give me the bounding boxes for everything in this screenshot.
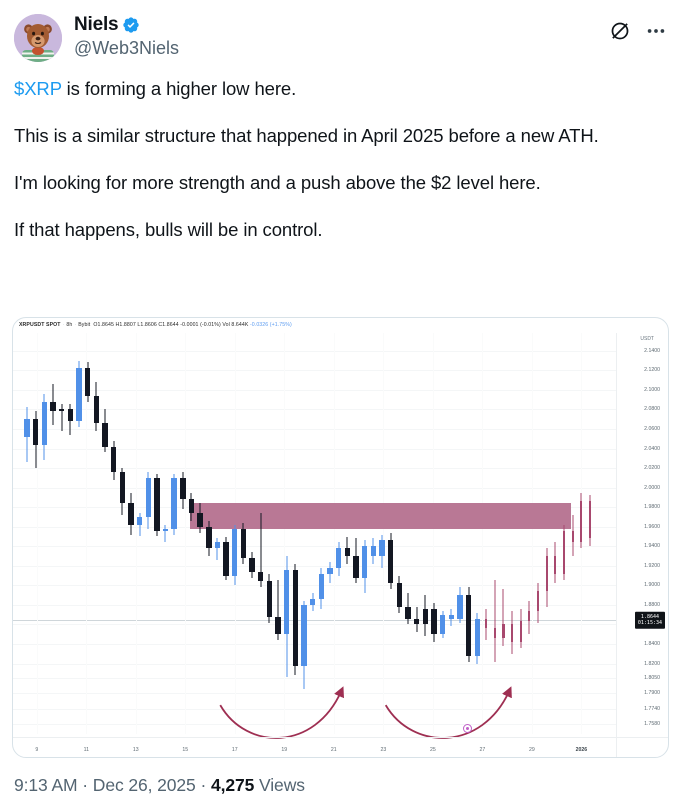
- time-tick: 29: [529, 747, 535, 753]
- vertical-gridline: [532, 333, 533, 734]
- candle-body: [24, 419, 29, 437]
- price-tick: 1.7580: [644, 721, 660, 727]
- candle-body: [154, 478, 159, 531]
- views-count: 4,275: [211, 775, 254, 795]
- candle: [33, 411, 38, 468]
- ohlc-high: H1.8807: [116, 322, 136, 328]
- vertical-gridline: [37, 333, 38, 734]
- tweet-header: Niels @Web3Niels: [0, 0, 681, 64]
- ohlc-volume: Vol 8.644K: [222, 322, 248, 328]
- author-handle[interactable]: @Web3Niels: [74, 37, 609, 60]
- candle: [293, 564, 298, 675]
- cashtag-xrp[interactable]: $XRP: [14, 78, 62, 99]
- candle: [511, 611, 513, 654]
- ohlc-low: L1.8606: [137, 322, 156, 328]
- candle-body: [163, 529, 168, 531]
- chart-interval: 8h: [66, 322, 72, 328]
- candle-body: [475, 619, 480, 656]
- time-tick: 23: [380, 747, 386, 753]
- price-tick: 1.9200: [644, 563, 660, 569]
- price-tick: 1.8050: [644, 675, 660, 681]
- candle-body: [580, 501, 582, 542]
- candle: [258, 513, 263, 587]
- candle-body: [336, 548, 341, 568]
- time-tick: 2026: [576, 747, 588, 753]
- tweet-paragraph-2: This is a similar structure that happene…: [14, 123, 667, 148]
- candle-body: [197, 513, 202, 527]
- price-tick: 1.9600: [644, 524, 660, 530]
- author-names: Niels @Web3Niels: [74, 14, 609, 59]
- vertical-gridline: [482, 333, 483, 734]
- footer-separator-1: ·: [82, 775, 88, 795]
- price-axis[interactable]: USDT 2.14002.12002.10002.08002.06002.040…: [616, 333, 668, 757]
- candle: [554, 542, 556, 583]
- candle-body: [520, 621, 522, 643]
- time-tick: 25: [430, 747, 436, 753]
- candle-wick: [494, 580, 495, 662]
- candle-body: [431, 609, 436, 634]
- grok-icon[interactable]: [609, 20, 631, 42]
- paragraph-1-rest: is forming a higher low here.: [62, 78, 297, 99]
- event-marker-icon[interactable]: [463, 724, 472, 733]
- candle: [345, 537, 350, 564]
- vertical-gridline: [185, 333, 186, 734]
- time-tick: 13: [133, 747, 139, 753]
- gridline: [13, 370, 616, 371]
- vertical-gridline: [433, 333, 434, 734]
- candle-body: [120, 472, 125, 503]
- candle-body: [189, 499, 194, 513]
- candle: [137, 513, 142, 536]
- candle-body: [449, 615, 454, 619]
- ohlc-close: C1.8644: [158, 322, 178, 328]
- time-axis[interactable]: 9111315171921232527292026: [13, 737, 668, 757]
- time-tick: 15: [182, 747, 188, 753]
- candle: [589, 495, 591, 546]
- candle-body: [293, 570, 298, 666]
- chart-symbol: XRPUSDT SPOT: [19, 322, 61, 328]
- candle-body: [275, 617, 280, 635]
- candle-body: [371, 546, 376, 556]
- candle: [362, 540, 367, 593]
- candle-body: [146, 478, 151, 517]
- candle: [206, 521, 211, 556]
- candle-body: [267, 581, 272, 616]
- candle-body: [171, 478, 176, 529]
- candle: [537, 583, 539, 622]
- candle: [528, 601, 530, 634]
- candle-body: [423, 609, 428, 625]
- gridline: [13, 644, 616, 645]
- candle: [466, 587, 471, 661]
- price-tick: 2.0400: [644, 446, 660, 452]
- candle-body: [397, 583, 402, 606]
- candle-body: [589, 501, 591, 538]
- ohlc-change: -0.0001 (-0.01%): [180, 322, 221, 328]
- candle-body: [206, 527, 211, 549]
- candle: [319, 568, 324, 609]
- post-date: Dec 26, 2025: [93, 775, 196, 795]
- candle: [494, 580, 496, 662]
- gridline: [13, 678, 616, 679]
- gridline: [13, 664, 616, 665]
- price-tick: 2.0600: [644, 426, 660, 432]
- time-tick: 17: [232, 747, 238, 753]
- candle: [414, 607, 419, 632]
- candle-body: [223, 542, 228, 575]
- candle: [546, 548, 548, 607]
- candle: [379, 535, 384, 568]
- candle-body: [284, 570, 289, 635]
- candle-body: [554, 556, 556, 574]
- candle: [163, 525, 168, 543]
- candle-body: [345, 548, 350, 556]
- gridline: [13, 351, 616, 352]
- candle-body: [310, 599, 315, 605]
- last-price-countdown: 01:15:34: [638, 620, 662, 626]
- candle: [68, 404, 73, 435]
- last-price-line: [13, 620, 616, 621]
- gridline: [13, 624, 616, 625]
- candle: [502, 589, 504, 646]
- candle: [50, 384, 55, 425]
- candle: [388, 533, 393, 590]
- candle-body: [537, 591, 539, 611]
- candle-body: [494, 628, 496, 638]
- price-tick: 1.8200: [644, 661, 660, 667]
- time-tick: 9: [35, 747, 38, 753]
- candle: [572, 515, 574, 556]
- candle: [580, 493, 582, 548]
- candle: [284, 556, 289, 677]
- candle-body: [137, 517, 142, 525]
- display-name-row: Niels: [74, 14, 609, 36]
- price-tick: 2.0000: [644, 485, 660, 491]
- candle-body: [59, 409, 64, 411]
- candle: [59, 404, 64, 431]
- gridline: [13, 546, 616, 547]
- candle: [397, 576, 402, 613]
- candle-body: [68, 409, 73, 421]
- price-tick: 2.0800: [644, 406, 660, 412]
- tweet-paragraph-3: I'm looking for more strength and a push…: [14, 170, 667, 195]
- price-tick: 2.1000: [644, 387, 660, 393]
- candle: [24, 407, 29, 462]
- candle-body: [232, 529, 237, 576]
- gridline: [13, 566, 616, 567]
- candle-body: [102, 423, 107, 446]
- candle-body: [528, 611, 530, 621]
- candle: [111, 441, 116, 480]
- candle: [154, 474, 159, 537]
- candle-body: [76, 368, 81, 421]
- candle-body: [301, 605, 306, 666]
- gridline: [13, 585, 616, 586]
- time-tick: 21: [331, 747, 337, 753]
- candle-wick: [61, 404, 62, 431]
- candle: [42, 394, 47, 460]
- candle: [197, 503, 202, 532]
- candle: [249, 552, 254, 577]
- candle-body: [388, 540, 393, 583]
- candle: [76, 361, 81, 427]
- footer-separator-2: ·: [200, 775, 206, 795]
- candle: [431, 603, 436, 642]
- candle-body: [457, 595, 462, 618]
- candle: [457, 587, 462, 622]
- candle: [520, 609, 522, 648]
- candle: [327, 562, 332, 584]
- candle-body: [466, 595, 471, 656]
- candle: [475, 613, 480, 664]
- candle-body: [563, 531, 565, 574]
- more-options-icon[interactable]: [645, 20, 667, 42]
- candle: [128, 493, 133, 534]
- rounded-bottom-arc: [220, 691, 341, 738]
- tweet-text: $XRP is forming a higher low here. This …: [0, 64, 681, 242]
- chart-plot-area: USDT 2.14002.12002.10002.08002.06002.040…: [13, 333, 668, 757]
- candle: [371, 538, 376, 563]
- candle: [405, 593, 410, 624]
- price-tick: 2.1200: [644, 367, 660, 373]
- candle-body: [33, 419, 38, 444]
- candle-body: [327, 568, 332, 574]
- candle-body: [379, 540, 384, 556]
- candle: [215, 538, 220, 560]
- display-name[interactable]: Niels: [74, 14, 118, 36]
- price-tick: 2.0200: [644, 465, 660, 471]
- candle-body: [215, 542, 220, 548]
- candle-body: [50, 402, 55, 412]
- chart-exchange: Bybit: [78, 322, 90, 328]
- time-tick: 19: [281, 747, 287, 753]
- price-tick: 1.8400: [644, 641, 660, 647]
- candle-body: [362, 546, 367, 577]
- candle-body: [485, 619, 487, 629]
- candle-body: [572, 531, 574, 543]
- price-tick: 1.9800: [644, 504, 660, 510]
- candle: [485, 609, 487, 640]
- candle-body: [440, 615, 445, 635]
- candle: [310, 593, 315, 611]
- price-axis-unit: USDT: [640, 336, 654, 342]
- vertical-gridline: [334, 333, 335, 734]
- candle: [301, 601, 306, 689]
- candle-body: [258, 572, 263, 582]
- time-tick: 11: [84, 747, 89, 753]
- candle-body: [180, 478, 185, 500]
- tweet-paragraph-4: If that happens, bulls will be in contro…: [14, 217, 667, 242]
- chart-topbar: XRPUSDT SPOT·8h·Bybit O1.8645 H1.8807 L1…: [13, 318, 668, 333]
- avatar[interactable]: [14, 14, 62, 62]
- bear-avatar-icon: [14, 14, 62, 62]
- tweet-card: Niels @Web3Niels $XRP is forming a hi: [0, 0, 681, 811]
- candle-body: [502, 624, 504, 638]
- last-price-badge: 1.8644 01:15:34: [635, 612, 665, 628]
- candle: [423, 595, 428, 636]
- candle: [223, 537, 228, 580]
- gridline: [13, 709, 616, 710]
- gridline: [13, 693, 616, 694]
- candle-body: [414, 619, 419, 625]
- post-time: 9:13 AM: [14, 775, 78, 795]
- price-tick: 1.8800: [644, 602, 660, 608]
- candle-body: [353, 556, 358, 578]
- candle-body: [319, 574, 324, 599]
- candle-body: [241, 529, 246, 558]
- candle-body: [94, 396, 99, 423]
- tweet-footer: 9:13 AM · Dec 26, 2025 · 4,275 Views: [14, 775, 305, 796]
- vertical-gridline: [383, 333, 384, 734]
- candle: [102, 409, 107, 452]
- candle: [353, 538, 358, 583]
- candle: [120, 468, 125, 515]
- candle: [449, 609, 454, 627]
- candle: [241, 523, 246, 564]
- time-tick: 27: [479, 747, 485, 753]
- views-label: Views: [259, 775, 305, 795]
- tweet-paragraph-1: $XRP is forming a higher low here.: [14, 76, 667, 101]
- header-actions: [609, 14, 667, 42]
- candle: [275, 580, 280, 641]
- candle: [563, 525, 565, 580]
- candle: [180, 472, 185, 509]
- chart-image[interactable]: XRPUSDT SPOT·8h·Bybit O1.8645 H1.8807 L1…: [12, 317, 669, 758]
- ohlc-open: O1.8645: [93, 322, 114, 328]
- candle-body: [128, 503, 133, 525]
- candle: [232, 525, 237, 586]
- candle: [146, 472, 151, 529]
- rounded-bottom-arc: [386, 691, 509, 738]
- price-tick: 1.7740: [644, 706, 660, 712]
- gridline: [13, 724, 616, 725]
- candle-wick: [165, 525, 166, 543]
- candle-body: [85, 368, 90, 395]
- candle-body: [249, 558, 254, 572]
- ohlc-session-change: -0.0326 (+1.75%): [250, 322, 292, 328]
- gridline: [13, 390, 616, 391]
- candle: [267, 574, 272, 623]
- resistance-zone: [190, 503, 571, 528]
- candle: [336, 542, 341, 575]
- candle-body: [405, 607, 410, 619]
- candle-body: [111, 447, 116, 472]
- verified-badge-icon: [122, 16, 140, 34]
- candle: [85, 362, 90, 401]
- candle: [171, 474, 176, 535]
- price-tick: 1.9000: [644, 582, 660, 588]
- candle: [94, 382, 99, 431]
- candle-body: [546, 556, 548, 591]
- price-tick: 2.1400: [644, 348, 660, 354]
- candle-body: [42, 402, 47, 445]
- gridline: [13, 468, 616, 469]
- price-tick: 1.7900: [644, 690, 660, 696]
- candle: [189, 493, 194, 520]
- candle-body: [511, 624, 513, 642]
- price-tick: 1.9400: [644, 543, 660, 549]
- gridline: [13, 488, 616, 489]
- candle: [440, 611, 445, 638]
